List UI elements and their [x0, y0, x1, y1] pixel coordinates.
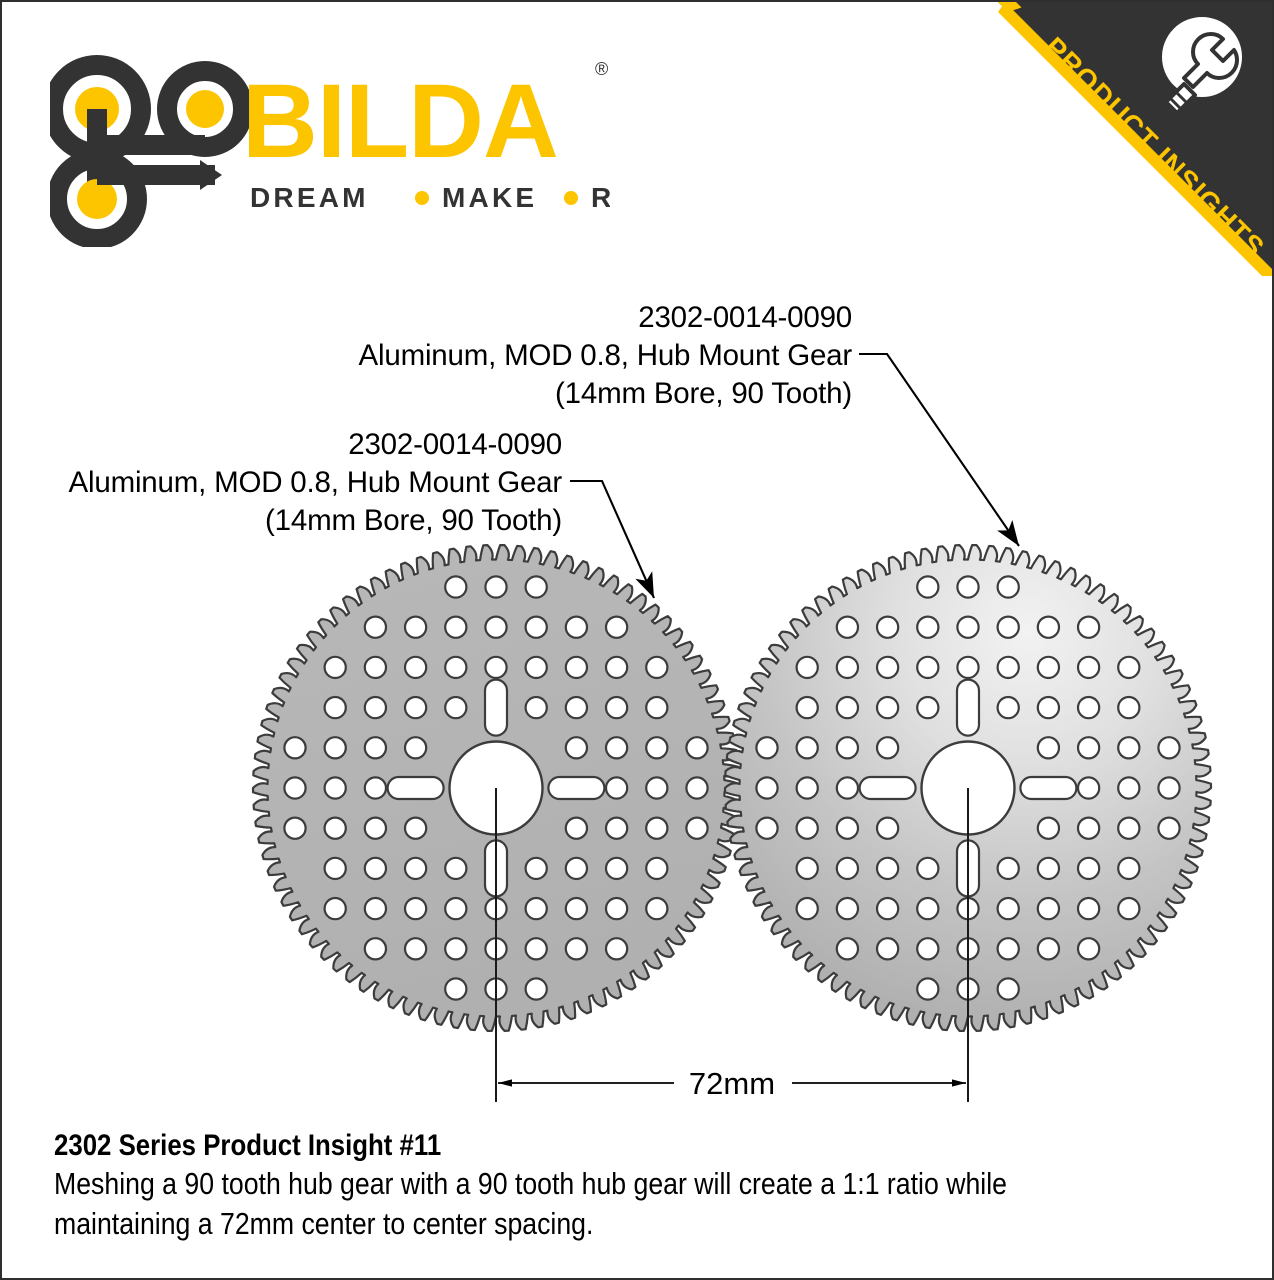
- gear-hole: [686, 777, 707, 798]
- gear-hole: [606, 898, 627, 919]
- gear-hole: [606, 858, 627, 879]
- gear-hole: [526, 697, 547, 718]
- gear-hole: [325, 898, 346, 919]
- gear-hole: [566, 858, 587, 879]
- gear-hole: [1078, 737, 1099, 758]
- gear-hole: [998, 898, 1019, 919]
- gear-hole: [837, 657, 858, 678]
- gear-hole: [877, 617, 898, 638]
- gear-hole: [284, 737, 305, 758]
- gear-hole: [405, 737, 426, 758]
- gear-slot: [1020, 777, 1076, 799]
- gear-hole: [998, 576, 1019, 597]
- gear-hole: [646, 818, 667, 839]
- gear-hole: [606, 777, 627, 798]
- gear-hole: [485, 576, 506, 597]
- gear-hole: [1078, 617, 1099, 638]
- gear-hole: [405, 938, 426, 959]
- gear-hole: [837, 777, 858, 798]
- gear-hole: [646, 657, 667, 678]
- product-insight-page: BILDA ® DREAM MAKE REPEAT: [0, 0, 1274, 1280]
- caption-body-line-1: Meshing a 90 tooth hub gear with a 90 to…: [54, 1164, 1060, 1204]
- gear-hole: [917, 657, 938, 678]
- gear-hole: [445, 657, 466, 678]
- gear-hole: [365, 898, 386, 919]
- gear-hole: [1118, 898, 1139, 919]
- gear-hole: [606, 617, 627, 638]
- gear-hole: [837, 617, 858, 638]
- gear-hole: [365, 858, 386, 879]
- gear-hole: [877, 737, 898, 758]
- gear-hole: [917, 938, 938, 959]
- gear-hole: [877, 818, 898, 839]
- gear-hole: [325, 818, 346, 839]
- gear-hole: [526, 938, 547, 959]
- gear-hole: [1078, 938, 1099, 959]
- gear-hole: [917, 898, 938, 919]
- gear-hole: [837, 737, 858, 758]
- gear-hole: [1118, 858, 1139, 879]
- gear-hole: [365, 938, 386, 959]
- gear-hole: [797, 697, 818, 718]
- gear-hole: [606, 737, 627, 758]
- gear-hole: [365, 777, 386, 798]
- caption-block: 2302 Series Product Insight #11 Meshing …: [54, 1128, 1060, 1244]
- gear-hole: [837, 898, 858, 919]
- gear-hole: [1078, 898, 1099, 919]
- gear-hole: [756, 818, 777, 839]
- gear-hole: [1038, 818, 1059, 839]
- gear-hole: [1038, 657, 1059, 678]
- gear-slot: [548, 777, 604, 799]
- gear-hole: [797, 898, 818, 919]
- gear-hole: [325, 657, 346, 678]
- gear-hole: [957, 657, 978, 678]
- gear-hole: [646, 858, 667, 879]
- gear-hole: [1118, 737, 1139, 758]
- gear-hole: [797, 737, 818, 758]
- gear-hole: [646, 697, 667, 718]
- gear-hole: [485, 617, 506, 638]
- gear-slot: [860, 777, 916, 799]
- gear-hole: [1038, 697, 1059, 718]
- gear-hole: [957, 576, 978, 597]
- gear-hole: [917, 617, 938, 638]
- gear-hole: [686, 737, 707, 758]
- gear-hole: [686, 818, 707, 839]
- gear-hole: [1078, 858, 1099, 879]
- gear-hole: [405, 617, 426, 638]
- gear-hole: [566, 737, 587, 758]
- gear-hole: [325, 697, 346, 718]
- gear-hole: [405, 657, 426, 678]
- gear-hole: [797, 818, 818, 839]
- gear-hole: [526, 576, 547, 597]
- gear-hole: [606, 818, 627, 839]
- gear-hole: [877, 697, 898, 718]
- gear-hole: [445, 858, 466, 879]
- gear-hole: [325, 858, 346, 879]
- gear-hole: [365, 737, 386, 758]
- gear-hole: [1038, 858, 1059, 879]
- gear-hole: [284, 818, 305, 839]
- gear-hole: [566, 697, 587, 718]
- gear-hole: [998, 657, 1019, 678]
- gear-hole: [756, 737, 777, 758]
- gear-hole: [1118, 697, 1139, 718]
- gear-hole: [1118, 818, 1139, 839]
- gear-hole: [566, 938, 587, 959]
- gear-hole: [797, 657, 818, 678]
- gear-hole: [606, 657, 627, 678]
- gear-hole: [526, 617, 547, 638]
- gear-hole: [877, 898, 898, 919]
- gear-hole: [1158, 737, 1179, 758]
- gear-hole: [365, 697, 386, 718]
- gear-slot: [388, 777, 444, 799]
- gear-hole: [485, 657, 506, 678]
- gear-hole: [1038, 898, 1059, 919]
- gear-hole: [1038, 938, 1059, 959]
- gear-hole: [646, 898, 667, 919]
- gear-hole: [566, 657, 587, 678]
- gear-hole: [646, 777, 667, 798]
- gear-hole: [1038, 617, 1059, 638]
- gear-hole: [566, 898, 587, 919]
- gear-hole: [837, 938, 858, 959]
- gear-slot: [957, 680, 979, 736]
- gear-hole: [797, 777, 818, 798]
- gear-hole: [917, 697, 938, 718]
- gear-hole: [877, 938, 898, 959]
- gear-hole: [1118, 657, 1139, 678]
- caption-body-line-2: maintaining a 72mm center to center spac…: [54, 1204, 1060, 1244]
- gear-hole: [1158, 818, 1179, 839]
- gear-hole: [445, 898, 466, 919]
- gear-hole: [1038, 737, 1059, 758]
- gear-hole: [877, 858, 898, 879]
- gear-hole: [1078, 818, 1099, 839]
- gear-hole: [526, 898, 547, 919]
- gear-hole: [445, 938, 466, 959]
- gear-hole: [284, 777, 305, 798]
- gear-hole: [566, 818, 587, 839]
- gear-hole: [998, 978, 1019, 999]
- gear-hole: [606, 697, 627, 718]
- gear-assembly-drawing: 72mm: [2, 2, 1274, 1280]
- gear-hole: [917, 858, 938, 879]
- gear-hole: [837, 858, 858, 879]
- gear-hole: [445, 576, 466, 597]
- gear-hole: [365, 617, 386, 638]
- gear-hole: [325, 737, 346, 758]
- gear-hole: [325, 777, 346, 798]
- gear-hole: [405, 818, 426, 839]
- gear-hole: [1078, 697, 1099, 718]
- gear-hole: [998, 697, 1019, 718]
- gear-hole: [917, 576, 938, 597]
- gear-hole: [998, 617, 1019, 638]
- dimension-label: 72mm: [689, 1066, 775, 1101]
- gear-hole: [837, 697, 858, 718]
- gear-hole: [445, 617, 466, 638]
- gear-hole: [917, 978, 938, 999]
- gear-hole: [526, 858, 547, 879]
- gear-hole: [405, 858, 426, 879]
- gear-hole: [877, 657, 898, 678]
- gear-hole: [405, 898, 426, 919]
- gear-hole: [1118, 777, 1139, 798]
- gear-hole: [998, 938, 1019, 959]
- gear-hole: [1158, 777, 1179, 798]
- gear-hole: [445, 978, 466, 999]
- gear-hole: [606, 938, 627, 959]
- leader-right-gear: [859, 354, 1019, 546]
- gear-hole: [837, 818, 858, 839]
- gear-hole: [756, 777, 777, 798]
- gear-hole: [365, 818, 386, 839]
- gear-hole: [1078, 657, 1099, 678]
- gear-hole: [797, 858, 818, 879]
- gear-hole: [445, 697, 466, 718]
- gear-slot: [485, 680, 507, 736]
- gear-hole: [646, 737, 667, 758]
- dimension-72mm: 72mm: [496, 1045, 968, 1102]
- gear-hole: [365, 657, 386, 678]
- gear-hole: [566, 617, 587, 638]
- gear-hole: [405, 697, 426, 718]
- gear-hole: [1078, 777, 1099, 798]
- gear-hole: [957, 617, 978, 638]
- gear-hole: [998, 858, 1019, 879]
- gear-hole: [526, 657, 547, 678]
- gear-hole: [526, 978, 547, 999]
- caption-title: 2302 Series Product Insight #11: [54, 1128, 1060, 1164]
